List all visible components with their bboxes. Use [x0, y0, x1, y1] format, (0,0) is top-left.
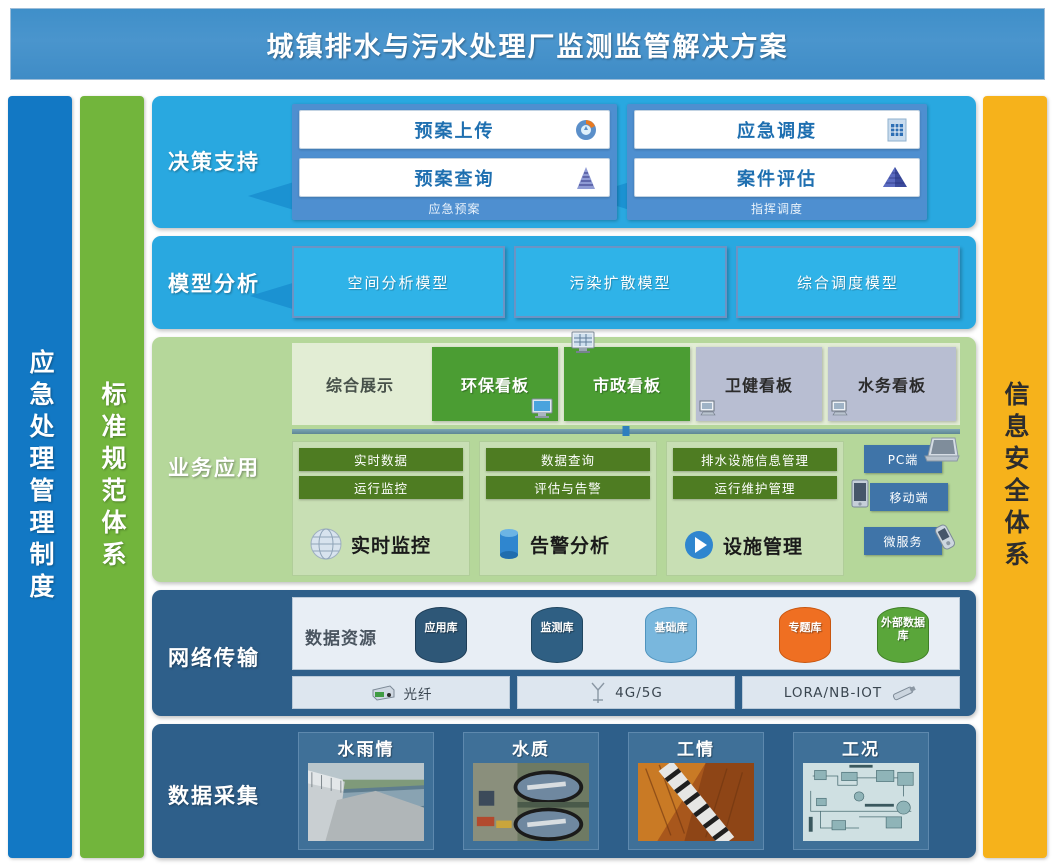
tag-drainage-facility-info-label: 排水设施信息管理 — [701, 450, 809, 469]
data-card-working-condition-label: 工况 — [842, 735, 880, 760]
display-divider-bar — [292, 429, 960, 434]
data-card-project-status-label: 工情 — [677, 735, 715, 760]
business-column-facility: 排水设施信息管理 运行维护管理 设施管理 — [666, 441, 844, 576]
tag-realtime-data-label: 实时数据 — [354, 450, 408, 469]
data-card-project-status[interactable]: 工情 — [628, 732, 764, 850]
pillar-standard-system: 标准规范体系 — [80, 96, 144, 858]
monitor-icon — [570, 331, 596, 355]
database-application[interactable]: 应用库 — [415, 607, 467, 663]
button-plan-query[interactable]: 预案查询 — [299, 158, 610, 197]
database-foundation-label: 基础库 — [645, 621, 697, 634]
decision-group-emergency-plan: 预案上传 预案查询 — [292, 104, 617, 220]
database-cylinder-icon — [494, 525, 524, 563]
link-4g5g[interactable]: 4G/5G — [517, 676, 735, 709]
scada-schematic-photo — [803, 763, 919, 841]
tag-realtime-data[interactable]: 实时数据 — [299, 448, 463, 471]
terminal-mobile-label: 移动端 — [889, 489, 928, 506]
architecture-stack: 决策支持 预案上传 预案查询 — [152, 96, 976, 858]
network-link-row: 光纤 4G/5G LORA/NB-IOT — [292, 676, 960, 709]
tag-operation-maintenance-label: 运行维护管理 — [714, 478, 795, 497]
pillar-emergency-management-label: 应急处理管理制度 — [22, 349, 58, 605]
antenna-icon — [589, 681, 607, 705]
layer-network-transmission: 网络传输 数据资源 应用库 监测库 基础库 专题库 外部数据库 — [152, 590, 976, 716]
board-environment-label: 环保看板 — [461, 372, 529, 396]
button-case-assessment-label: 案件评估 — [737, 165, 817, 191]
tag-data-query-label: 数据查询 — [541, 450, 595, 469]
small-screen-icon — [831, 399, 849, 417]
monitor-icon — [530, 397, 554, 419]
grid-table-icon — [885, 117, 909, 143]
board-health-label: 卫健看板 — [725, 372, 793, 396]
board-municipal-label: 市政看板 — [593, 372, 661, 396]
data-resource-title: 数据资源 — [305, 624, 377, 649]
comprehensive-display-label-box: 综合展示 — [296, 347, 424, 421]
business-footer-alarm-analysis-label: 告警分析 — [530, 531, 610, 558]
phone-icon — [930, 523, 960, 551]
business-footer-facility-management[interactable]: 设施管理 — [667, 527, 843, 563]
model-box-dispatch-label: 综合调度模型 — [797, 272, 899, 293]
terminal-mobile[interactable]: 移动端 — [870, 483, 948, 511]
comprehensive-display-label: 综合展示 — [326, 372, 394, 396]
decision-group-command-dispatch-title: 指挥调度 — [627, 200, 927, 217]
layer-decision-support-label: 决策支持 — [168, 146, 260, 176]
decision-group-emergency-plan-title: 应急预案 — [292, 200, 617, 217]
layer-data-acquisition-label: 数据采集 — [168, 780, 260, 810]
model-box-spatial[interactable]: 空间分析模型 — [292, 246, 505, 318]
database-monitoring-label: 监测库 — [531, 621, 583, 634]
link-lora-nbiot-label: LORA/NB-IOT — [784, 685, 882, 701]
business-footer-facility-management-label: 设施管理 — [723, 532, 803, 559]
link-fiber-label: 光纤 — [404, 683, 433, 703]
globe-icon — [307, 525, 345, 563]
data-resource-panel: 数据资源 应用库 监测库 基础库 专题库 外部数据库 — [292, 597, 960, 670]
database-thematic-label: 专题库 — [779, 621, 831, 634]
layer-business-application: 业务应用 综合展示 环保看板 市政看板 — [152, 337, 976, 582]
layer-model-analysis: 模型分析 空间分析模型 污染扩散模型 综合调度模型 — [152, 236, 976, 329]
data-card-water-quality[interactable]: 水质 — [463, 732, 599, 850]
river-channel-photo — [308, 763, 424, 841]
page-title-bar: 城镇排水与污水处理厂监测监管解决方案 — [10, 8, 1045, 80]
pillar-standard-system-label: 标准规范体系 — [94, 381, 130, 573]
arrow-left-icon — [248, 182, 294, 210]
layered-cone-icon — [573, 165, 599, 191]
model-box-pollution-label: 污染扩散模型 — [569, 272, 671, 293]
database-external-label: 外部数据库 — [877, 616, 929, 642]
layer-network-transmission-label: 网络传输 — [168, 642, 260, 672]
layer-model-analysis-label: 模型分析 — [168, 268, 260, 298]
business-column-monitoring: 实时数据 运行监控 实时监控 — [292, 441, 470, 576]
pyramid-icon — [881, 165, 909, 191]
recycle-circle-icon — [573, 117, 599, 143]
business-footer-realtime-monitoring-label: 实时监控 — [351, 531, 431, 558]
button-plan-upload-label: 预案上传 — [415, 117, 495, 143]
pillar-information-security: 信息安全体系 — [983, 96, 1047, 858]
model-box-spatial-label: 空间分析模型 — [347, 272, 449, 293]
board-municipal[interactable]: 市政看板 — [564, 347, 690, 421]
page-title: 城镇排水与污水处理厂监测监管解决方案 — [267, 25, 789, 64]
data-card-working-condition[interactable]: 工况 — [793, 732, 929, 850]
board-environment[interactable]: 环保看板 — [432, 347, 558, 421]
arrow-left-icon — [250, 282, 296, 310]
database-thematic[interactable]: 专题库 — [779, 607, 831, 663]
layer-data-acquisition: 数据采集 水雨情 — [152, 724, 976, 858]
data-card-rainfall[interactable]: 水雨情 — [298, 732, 434, 850]
database-application-label: 应用库 — [415, 621, 467, 634]
model-box-dispatch[interactable]: 综合调度模型 — [736, 246, 960, 318]
button-plan-query-label: 预案查询 — [415, 165, 495, 191]
button-case-assessment[interactable]: 案件评估 — [634, 158, 920, 197]
tag-drainage-facility-info[interactable]: 排水设施信息管理 — [673, 448, 837, 471]
sedimentation-tank-photo — [473, 763, 589, 841]
database-monitoring[interactable]: 监测库 — [531, 607, 583, 663]
board-water-affairs-label: 水务看板 — [858, 372, 926, 396]
database-foundation[interactable]: 基础库 — [645, 607, 697, 663]
tag-assessment-alarm[interactable]: 评估与告警 — [486, 476, 650, 499]
pillar-emergency-management: 应急处理管理制度 — [8, 96, 72, 858]
layer-decision-support: 决策支持 预案上传 预案查询 — [152, 96, 976, 228]
business-footer-alarm-analysis[interactable]: 告警分析 — [480, 525, 656, 563]
database-external[interactable]: 外部数据库 — [877, 607, 929, 663]
pipe-trench-photo — [638, 763, 754, 841]
model-box-pollution[interactable]: 污染扩散模型 — [514, 246, 727, 318]
link-4g5g-label: 4G/5G — [615, 685, 663, 701]
tablet-icon — [850, 479, 870, 509]
button-emergency-dispatch-label: 应急调度 — [737, 117, 817, 143]
sensor-probe-icon — [890, 684, 918, 702]
laptop-icon — [924, 435, 960, 465]
button-emergency-dispatch[interactable]: 应急调度 — [634, 110, 920, 149]
tag-operation-maintenance[interactable]: 运行维护管理 — [673, 476, 837, 499]
link-lora-nbiot[interactable]: LORA/NB-IOT — [742, 676, 960, 709]
layer-business-application-label: 业务应用 — [168, 452, 260, 482]
terminal-microservice-label: 微服务 — [883, 533, 922, 550]
pillar-information-security-label: 信息安全体系 — [997, 381, 1033, 573]
fiber-device-icon — [370, 684, 396, 702]
small-screen-icon — [699, 399, 717, 417]
board-health[interactable]: 卫健看板 — [696, 347, 822, 421]
tag-operation-monitoring[interactable]: 运行监控 — [299, 476, 463, 499]
board-water-affairs[interactable]: 水务看板 — [828, 347, 956, 421]
tag-operation-monitoring-label: 运行监控 — [354, 478, 408, 497]
data-card-water-quality-label: 水质 — [512, 735, 550, 760]
link-fiber[interactable]: 光纤 — [292, 676, 510, 709]
data-card-rainfall-label: 水雨情 — [338, 735, 395, 760]
tag-data-query[interactable]: 数据查询 — [486, 448, 650, 471]
business-column-alarm: 数据查询 评估与告警 告警分析 — [479, 441, 657, 576]
comprehensive-display-panel: 综合展示 环保看板 市政看板 — [292, 343, 960, 425]
tag-assessment-alarm-label: 评估与告警 — [534, 478, 602, 497]
business-footer-realtime-monitoring[interactable]: 实时监控 — [293, 525, 469, 563]
terminal-pc-label: PC端 — [888, 451, 919, 468]
decision-group-command-dispatch: 应急调度 案件评估 — [627, 104, 927, 220]
button-plan-upload[interactable]: 预案上传 — [299, 110, 610, 149]
play-circle-icon — [681, 527, 717, 563]
